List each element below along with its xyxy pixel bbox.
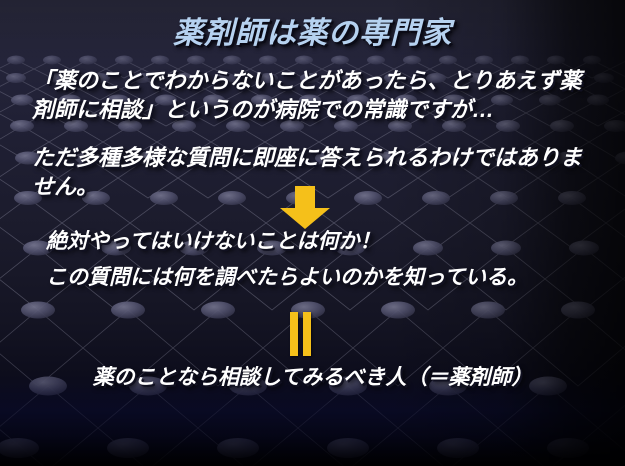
equals-sign-icon bbox=[290, 312, 314, 356]
down-arrow-icon bbox=[278, 186, 332, 230]
conclusion-text: 薬のことなら相談してみるべき人（＝薬剤師） bbox=[0, 364, 625, 392]
slide-title: 薬剤師は薬の専門家 bbox=[0, 8, 625, 52]
equals-bar-left bbox=[290, 312, 298, 356]
key-point-2: この質問には何を調べたらよいのかを知っている。 bbox=[46, 264, 528, 292]
key-point-1: 絶対やってはいけないことは何か！ bbox=[46, 228, 381, 256]
presentation-slide: 薬剤師は薬の専門家 「薬のことでわからないことがあったら、とりあえず薬剤師に相談… bbox=[0, 0, 625, 466]
body-paragraph-1: 「薬のことでわからないことがあったら、とりあえず薬剤師に相談」というのが病院での… bbox=[32, 66, 602, 124]
slide-content: 薬剤師は薬の専門家 「薬のことでわからないことがあったら、とりあえず薬剤師に相談… bbox=[0, 0, 625, 466]
equals-bar-right bbox=[303, 312, 311, 356]
